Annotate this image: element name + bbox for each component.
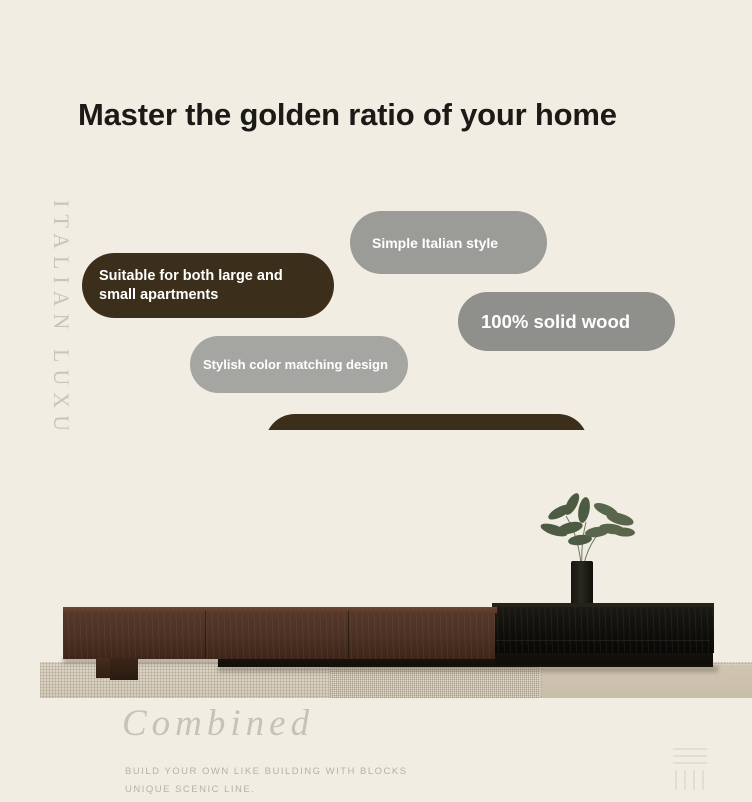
feature-pill-suitable-label: Suitable for both large and small apartm… [99, 267, 317, 304]
cabinet-wood-top [63, 607, 497, 613]
product-scene-photo [0, 430, 752, 698]
decorative-lines-icon [673, 748, 707, 790]
cabinet-wood-grain [63, 611, 495, 659]
page-title: Master the golden ratio of your home [78, 97, 617, 133]
footer-tagline-line-2: UNIQUE SCENIC LINE. [125, 784, 255, 795]
cabinet-black-top [492, 603, 714, 607]
cabinet-black-seam [496, 640, 710, 641]
footer-tagline-line-1: BUILD YOUR OWN LIKE BUILDING WITH BLOCKS [125, 766, 408, 777]
feature-pill-simple-italian-style-label: Simple Italian style [372, 235, 498, 251]
footer-script-word: Combined [122, 702, 314, 745]
cabinet-wood-module [63, 611, 495, 659]
feature-pill-solid-wood: 100% solid wood [458, 292, 675, 351]
cabinet-drawer-seam [205, 611, 206, 658]
cabinet-drawer-seam [348, 611, 349, 658]
cabinet-leg-front [110, 658, 138, 680]
product-feature-banner: Master the golden ratio of your home ITA… [0, 0, 752, 802]
feature-pill-stylish-color-matching: Stylish color matching design [190, 336, 408, 393]
cabinet-black-module [492, 605, 714, 653]
feature-pill-suitable: Suitable for both large and small apartm… [82, 253, 334, 318]
decor-vase [571, 561, 593, 604]
cabinet-black-texture [492, 605, 714, 653]
cabinet-plinth-shadow [218, 666, 718, 672]
feature-pill-stylish-color-matching-label: Stylish color matching design [203, 357, 388, 372]
feature-pill-simple-italian-style: Simple Italian style [350, 211, 547, 274]
feature-pill-solid-wood-label: 100% solid wood [481, 311, 630, 333]
